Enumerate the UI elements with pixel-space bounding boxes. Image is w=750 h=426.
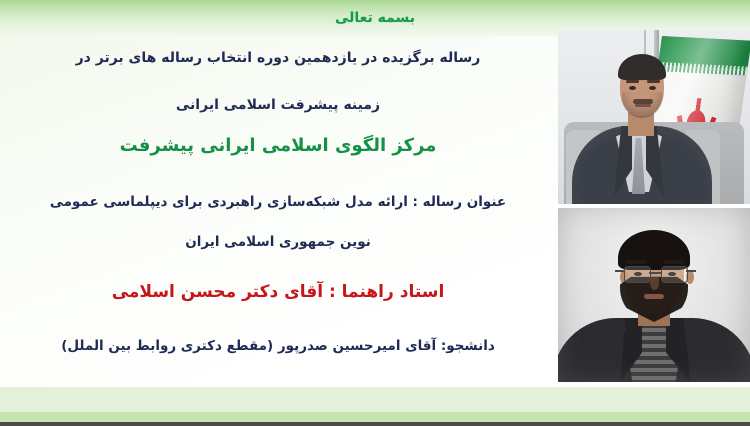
supervisor-mouth: [635, 104, 651, 107]
supervisor-eye-left: [629, 86, 636, 90]
supervisor-eyebrow-left: [626, 80, 639, 83]
student-photo: [558, 208, 750, 382]
presentation-slide: بسمه تعالی رساله برگزیده در یازدهمین دور…: [0, 0, 750, 426]
slide-footer-band: [0, 387, 750, 415]
slide-footer-accent: [0, 412, 750, 422]
award-line-1: رساله برگزیده در یازدهمین دوره انتخاب رس…: [0, 49, 556, 67]
supervisor-eye-right: [649, 86, 656, 90]
supervisor-photo: [558, 30, 750, 204]
award-line-2: زمینه پیشرفت اسلامی ایرانی: [0, 96, 556, 114]
thesis-title-line-1: عنوان رساله : ارائه مدل شبکه‌سازی راهبرد…: [0, 193, 556, 211]
photo-vignette: [558, 208, 750, 382]
header-title: بسمه تعالی: [0, 9, 750, 27]
organization-name: مرکز الگوی اسلامی ایرانی پیشرفت: [0, 134, 556, 158]
slide-bottom-strip: [0, 422, 750, 426]
slide-text-column: رساله برگزیده در یازدهمین دوره انتخاب رس…: [0, 38, 556, 386]
student-name: دانشجو: آقای امیرحسین صدرپور (مقطع دکتری…: [0, 337, 556, 355]
supervisor-eyebrow-right: [647, 80, 660, 83]
supervisor-name: استاد راهنما : آقای دکتر محسن اسلامی: [0, 281, 556, 304]
thesis-title-line-2: نوین جمهوری اسلامی ایران: [0, 233, 556, 251]
